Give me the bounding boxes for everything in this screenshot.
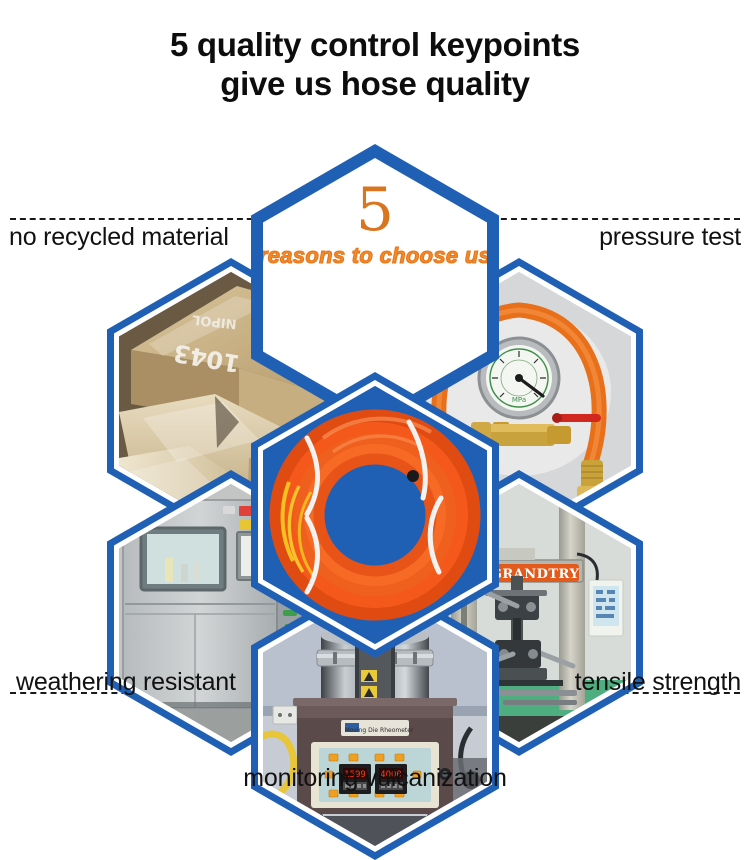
reasons-count: 5 bbox=[356, 182, 394, 239]
infographic-root: 5 quality control keypoints give us hose… bbox=[0, 0, 750, 800]
hose-coil-artwork bbox=[263, 386, 487, 644]
label-monitoring-vulcanization: monitoring vulcanization bbox=[0, 764, 750, 793]
label-no-recycled-material: no recycled material bbox=[9, 223, 229, 252]
label-tensile-strength: tensile strength bbox=[575, 668, 741, 697]
hex-photo-hose-coil bbox=[263, 386, 487, 644]
svg-text:MPa: MPa bbox=[512, 396, 526, 404]
svg-text:GRANDTRY: GRANDTRY bbox=[491, 567, 580, 582]
label-pressure-test: pressure test bbox=[599, 223, 741, 252]
reasons-tagline: reasons to choose us bbox=[263, 243, 487, 269]
svg-text:Moving Die Rheometer: Moving Die Rheometer bbox=[345, 727, 414, 734]
label-weathering-resistant: weathering resistant bbox=[16, 668, 236, 697]
